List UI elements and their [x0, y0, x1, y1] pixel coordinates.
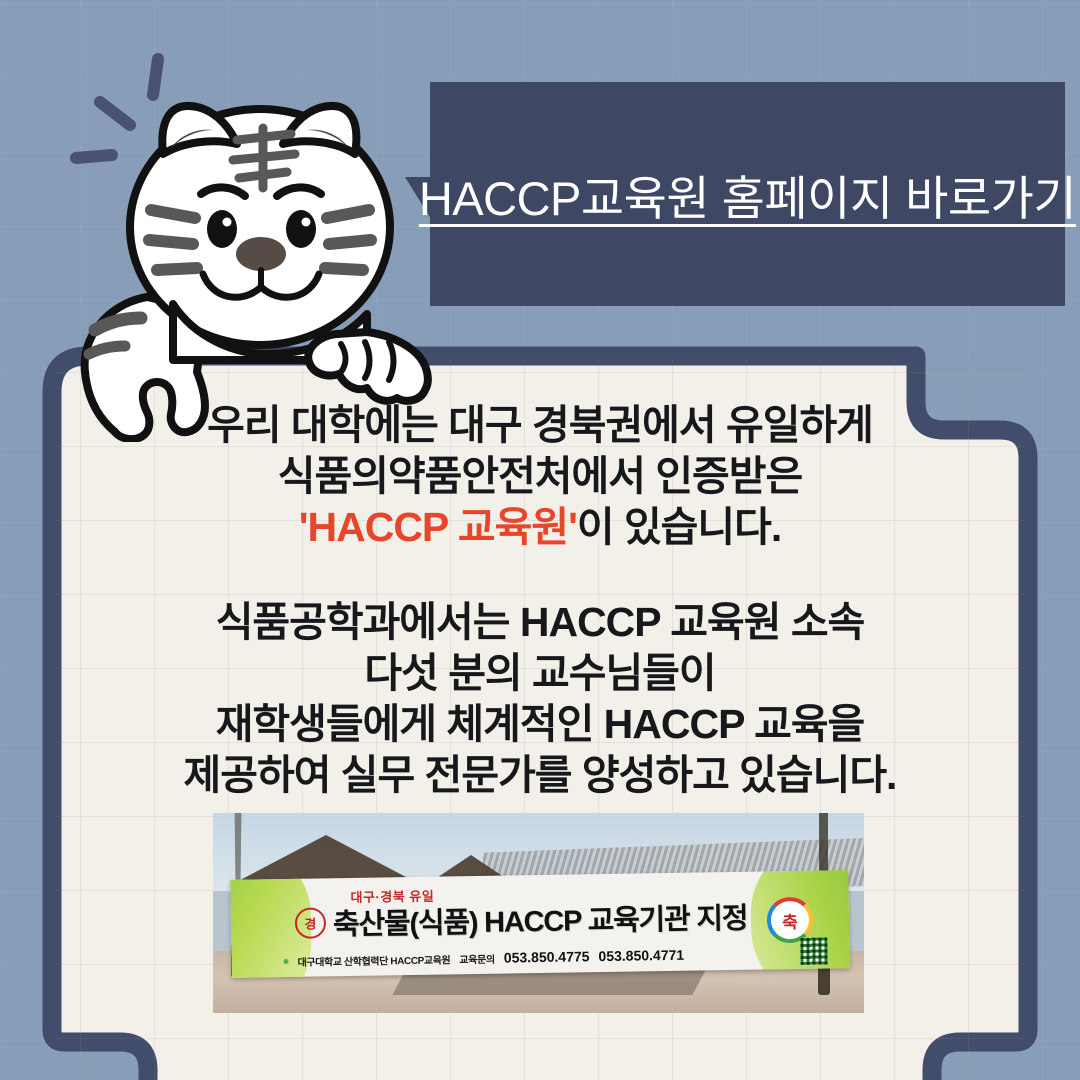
- banner-seal-left-icon: 경: [295, 907, 326, 938]
- white-tiger-mascot: [55, 42, 455, 442]
- paragraph-spacer: [56, 553, 1024, 597]
- paragraph-2-line-4: 제공하여 실무 전문가를 양성하고 있습니다.: [56, 750, 1024, 801]
- banner-tel-1: 053.850.4775: [504, 948, 590, 965]
- banner-bullet-icon: [284, 958, 289, 963]
- haccp-banner-photo: 대구·경북 유일 경 축산물(식품) HACCP 교육기관 지정 축 대구대학교…: [213, 813, 864, 1013]
- banner-main-line: 축산물(식품) HACCP 교육기관 지정: [333, 895, 748, 944]
- content-card-body: 우리 대학에는 대구 경북권에서 유일하게 식품의약품안전처에서 인증받은 'H…: [56, 358, 1024, 1080]
- highlight-text: 'HACCP 교육원': [299, 504, 577, 550]
- banner-main-row: 경 축산물(식품) HACCP 교육기관 지정: [295, 896, 760, 943]
- banner-bottom-row: 대구대학교 산학협력단 HACCP교육원 교육문의 053.850.4775 0…: [283, 945, 779, 969]
- banner-tel-2: 053.850.4771: [598, 947, 684, 964]
- banner-org-line: 대구대학교 산학협력단 HACCP교육원: [297, 951, 450, 968]
- homepage-link-label[interactable]: HACCP교육원 홈페이지 바로가기: [430, 82, 1065, 306]
- paragraph-2-line-2: 다섯 분의 교수님들이: [56, 648, 1024, 699]
- card-text-block: 우리 대학에는 대구 경북권에서 유일하게 식품의약품안전처에서 인증받은 'H…: [56, 400, 1024, 801]
- photo-banner-cloth: 대구·경북 유일 경 축산물(식품) HACCP 교육기관 지정 축 대구대학교…: [230, 870, 849, 978]
- banner-inquiry-label: 교육문의: [459, 950, 495, 966]
- highlight-line-rest: 이 있습니다.: [577, 504, 781, 550]
- paragraph-2-line-3: 재학생들에게 체계적인 HACCP 교육을: [56, 699, 1024, 750]
- highlight-line: 'HACCP 교육원'이 있습니다.: [56, 502, 1024, 553]
- banner-qr-code-icon: [800, 937, 827, 964]
- homepage-link-banner[interactable]: HACCP교육원 홈페이지 바로가기: [405, 82, 1065, 306]
- paragraph-2-line-1: 식품공학과에서는 HACCP 교육원 소속: [56, 597, 1024, 648]
- poster-canvas: 우리 대학에는 대구 경북권에서 유일하게 식품의약품안전처에서 인증받은 'H…: [0, 0, 1080, 1080]
- paragraph-1-line-2: 식품의약품안전처에서 인증받은: [56, 451, 1024, 502]
